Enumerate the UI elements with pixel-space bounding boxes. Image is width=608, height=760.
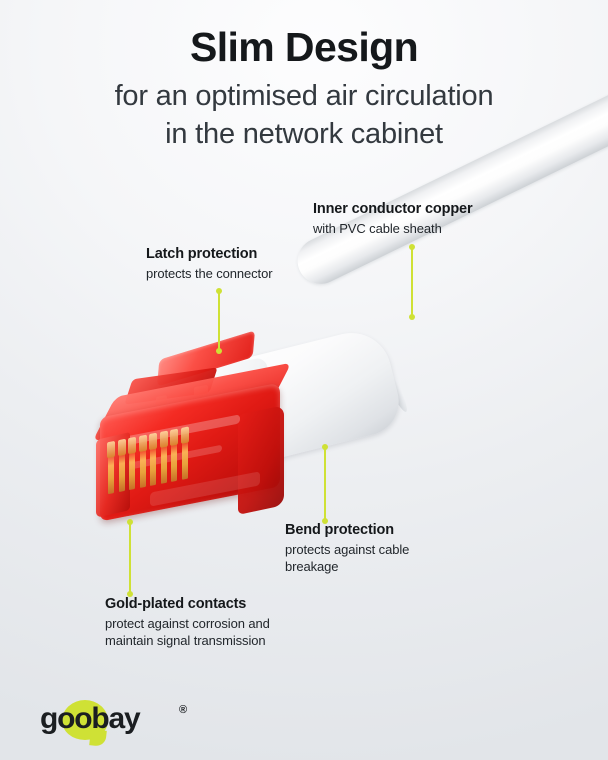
- callout-bend-protection: Bend protection protects against cable b…: [285, 521, 409, 576]
- page-subtitle-line-1: for an optimised air circulation: [0, 78, 608, 116]
- leader-dot: [216, 348, 222, 354]
- gold-contact-slot: [139, 435, 147, 453]
- gold-contact-pin: [119, 451, 125, 492]
- callout-description-line: protects against cable: [285, 541, 409, 558]
- logo-wordmark-text: goobay: [40, 702, 139, 735]
- callout-description-line: maintain signal transmission: [105, 632, 270, 649]
- leader-dot: [127, 519, 133, 525]
- gold-contact-pin: [140, 447, 146, 488]
- gold-contact-slot: [170, 429, 178, 447]
- callout-title: Gold-plated contacts: [105, 595, 270, 613]
- logo-wordmark: goobay: [40, 702, 139, 736]
- page-title: Slim Design: [0, 25, 608, 71]
- callout-description-line: breakage: [285, 558, 409, 575]
- leader-dot: [322, 444, 328, 450]
- callout-description: protects against cable breakage: [285, 541, 409, 576]
- infographic-canvas: Slim Design for an optimised air circula…: [0, 0, 608, 760]
- connector-housing-side: [238, 405, 284, 515]
- gold-contact-pin: [171, 441, 177, 482]
- leader-line-bend-protection: [324, 446, 326, 522]
- gold-contact-slot: [128, 437, 136, 455]
- callout-description: with PVC cable sheath: [313, 220, 472, 237]
- callout-description-line: protects the connector: [146, 265, 272, 282]
- gold-contact-pin: [129, 449, 135, 490]
- gold-contact-slot: [107, 441, 115, 459]
- callout-title: Inner conductor copper: [313, 200, 472, 218]
- gold-contact-pin: [182, 439, 188, 480]
- gold-contact-slot: [181, 427, 189, 445]
- callout-title: Latch protection: [146, 245, 272, 263]
- leader-line-latch-protection: [218, 290, 220, 352]
- gold-contact-pin: [161, 443, 167, 484]
- gold-contact-slot: [160, 431, 168, 449]
- leader-line-inner-conductor: [411, 246, 413, 318]
- callout-title: Bend protection: [285, 521, 409, 539]
- callout-description-line: protect against corrosion and: [105, 615, 270, 632]
- gold-contact-pin: [150, 445, 156, 486]
- gold-contact-slot: [118, 439, 126, 457]
- goobay-logo: goobay ®: [40, 702, 230, 742]
- callout-latch-protection: Latch protection protects the connector: [146, 245, 272, 282]
- callout-inner-conductor: Inner conductor copper with PVC cable sh…: [313, 200, 472, 237]
- leader-dot: [216, 288, 222, 294]
- registered-trademark-icon: ®: [179, 704, 187, 716]
- leader-dot: [409, 314, 415, 320]
- callout-description: protect against corrosion and maintain s…: [105, 615, 270, 650]
- leader-line-gold-plated-contacts: [129, 521, 131, 595]
- leader-dot: [409, 244, 415, 250]
- callout-description-line: with PVC cable sheath: [313, 220, 472, 237]
- callout-description: protects the connector: [146, 265, 272, 282]
- gold-contact-slot: [149, 433, 157, 451]
- gold-contact-pin: [108, 453, 114, 494]
- callout-gold-plated-contacts: Gold-plated contacts protect against cor…: [105, 595, 270, 650]
